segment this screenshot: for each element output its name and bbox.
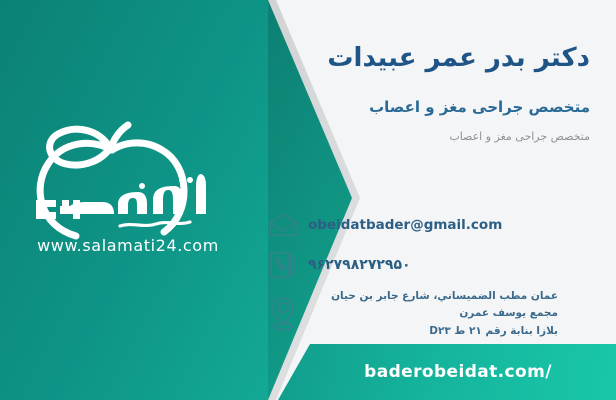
doctor-specialty-secondary: متخصص جراحی مغز و اعصاب bbox=[274, 130, 590, 143]
address-line-2: بلازا بنابة رقم ۲۱ ط D۲۳ bbox=[308, 323, 558, 340]
address-row[interactable]: عمان مطب الضميساني، شارع جابر بن حيان مج… bbox=[268, 288, 594, 340]
email-text[interactable]: obeidatbader@gmail.com bbox=[308, 217, 502, 233]
logo-website[interactable]: www.salamati24.com bbox=[14, 236, 242, 255]
phone-book-icon bbox=[268, 250, 298, 280]
apple-leaf-logo-icon bbox=[14, 108, 242, 248]
address-text-group: عمان مطب الضميساني، شارع جابر بن حيان مج… bbox=[308, 288, 558, 340]
phone-number[interactable]: ۹۶۲۷۹۸۲۷۲۹۵۰ bbox=[308, 257, 411, 273]
address-line-1: عمان مطب الضميساني، شارع جابر بن حيان مج… bbox=[308, 288, 558, 323]
location-pin-icon bbox=[268, 295, 298, 333]
email-row[interactable]: obeidatbader@gmail.com bbox=[268, 210, 594, 240]
salamati24-logo[interactable]: www.salamati24.com bbox=[14, 108, 242, 278]
phone-row[interactable]: ۹۶۲۷۹۸۲۷۲۹۵۰ bbox=[268, 250, 594, 280]
card-content: دکتر بدر عمر عبیدات متخصص جراحی مغز و اع… bbox=[268, 0, 598, 400]
doctor-specialty: متخصص جراحی مغز و اعصاب bbox=[274, 98, 590, 116]
business-card: www.salamati24.com دکتر بدر عمر عبیدات م… bbox=[0, 0, 616, 400]
doctor-name: دکتر بدر عمر عبیدات bbox=[274, 42, 590, 75]
envelope-icon bbox=[268, 210, 298, 240]
footer-website[interactable]: baderobeidat.com/ bbox=[0, 344, 616, 400]
